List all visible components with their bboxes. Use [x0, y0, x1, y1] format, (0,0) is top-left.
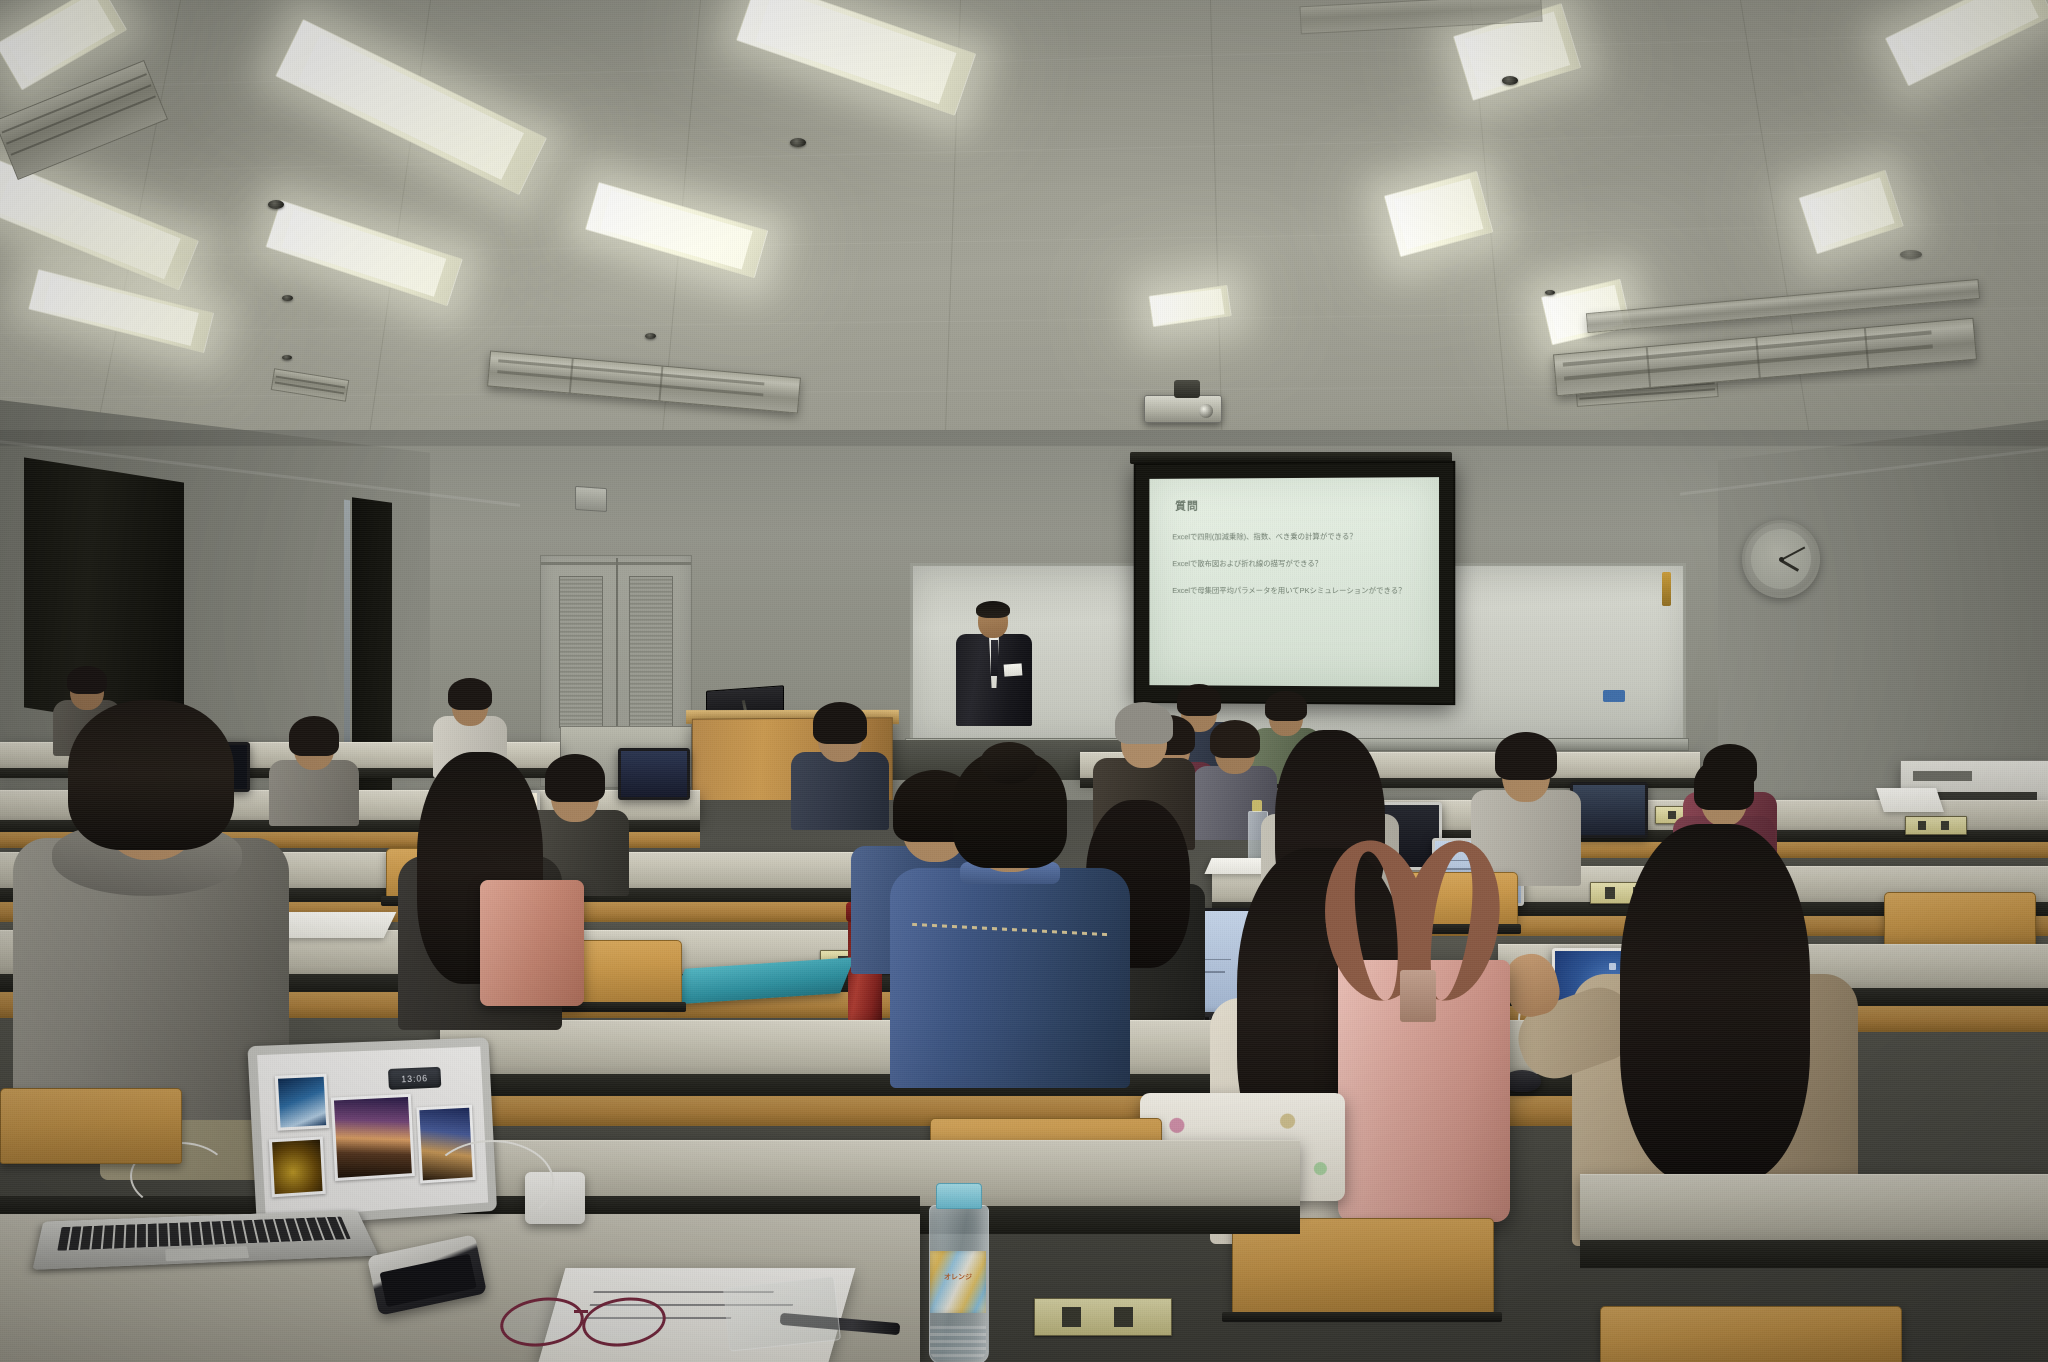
sprinkler-head-icon	[1545, 290, 1555, 295]
attendee-torso	[890, 868, 1130, 1088]
chair[interactable]	[1600, 1306, 1900, 1362]
chair[interactable]	[0, 1088, 180, 1162]
chair-backrest	[1600, 1306, 1902, 1362]
plastic-wrapper	[723, 1276, 841, 1351]
eyeglasses	[500, 1298, 700, 1358]
desk-power-outlet[interactable]	[1905, 816, 1967, 835]
attendee-hair	[1694, 758, 1754, 810]
ceiling-light-troffer	[265, 200, 463, 307]
sprinkler-head-icon	[282, 295, 293, 301]
attendee-hair	[1495, 732, 1557, 780]
bottle-ribs	[930, 1326, 986, 1360]
ceiling-light-troffer	[1383, 171, 1493, 258]
desk-edge	[1580, 1240, 2048, 1268]
whiteboard-hook	[1662, 572, 1671, 606]
water-bottle: オレンジ	[927, 1183, 989, 1362]
chair[interactable]	[1884, 892, 2034, 950]
sprinkler-head-icon	[268, 200, 284, 209]
desk-power-outlet[interactable]	[1034, 1298, 1172, 1336]
ceiling-light-troffer	[736, 0, 977, 116]
desk-surface	[1580, 1174, 2048, 1241]
door-glass-panel	[629, 576, 673, 728]
chair-frame	[1222, 1312, 1503, 1322]
screen-clock-widget: 13:06	[388, 1067, 442, 1090]
lecture-hall-photo: 質問 Excelで四則(加減乗除)、指数、べき乗の計算ができる？ Excelで散…	[0, 0, 2048, 1362]
chair-backrest	[0, 1088, 182, 1164]
glasses-lens	[497, 1292, 587, 1351]
power-cable	[430, 1140, 554, 1224]
paper-sheet	[1876, 788, 1944, 812]
door-glass-panel	[559, 576, 603, 728]
sprinkler-head-icon	[1900, 250, 1922, 259]
attendee-hair	[1265, 691, 1307, 721]
attendee-hair	[67, 666, 107, 694]
projector-lens-icon	[1199, 404, 1213, 418]
projector-mount	[1174, 380, 1200, 398]
wall-clock	[1742, 520, 1820, 598]
hvac-duct-unit	[487, 350, 801, 413]
presenter-hair	[976, 601, 1010, 618]
attendee-hair	[1115, 702, 1173, 744]
attendee-hair-bun	[980, 742, 1038, 784]
attendee-hair	[1210, 720, 1260, 758]
coral-bag	[480, 880, 584, 1006]
sunset-landscape-photo[interactable]	[331, 1094, 415, 1181]
laptop-keys[interactable]	[57, 1216, 351, 1250]
presenter-tie	[991, 640, 998, 676]
golden-lights-photo[interactable]	[269, 1137, 326, 1198]
clock-center-pin	[1779, 557, 1784, 562]
ceiling-light-troffer	[0, 159, 199, 290]
attendee-hair	[813, 702, 867, 744]
laptop-trackpad[interactable]	[166, 1246, 249, 1261]
chair-backrest	[1884, 892, 2036, 952]
attendee-hair	[289, 716, 339, 756]
projection-screen-surface: 質問 Excelで四則(加減乗除)、指数、べき乗の計算ができる？ Excelで散…	[1149, 477, 1439, 687]
desk-row	[1580, 1174, 2048, 1240]
ceiling-vent	[271, 368, 350, 402]
sprinkler-head-icon	[645, 333, 656, 339]
blue-mountain-photo[interactable]	[275, 1073, 330, 1130]
ceiling	[0, 0, 2048, 470]
presenter	[952, 604, 1036, 724]
slide-line: Excelで母集団平均パラメータを用いてPKシミュレーションができる？	[1172, 586, 1421, 597]
ceiling-light-troffer	[1884, 0, 2048, 87]
slide-line: Excelで四則(加減乗除)、指数、べき乗の計算ができる？	[1172, 532, 1421, 543]
attendee-hair	[1620, 824, 1810, 1182]
glasses-lens	[579, 1292, 669, 1351]
wall-speaker	[575, 486, 607, 512]
printer-control-panel	[1913, 771, 1972, 781]
laptop-screen	[621, 751, 687, 797]
sprinkler-head-icon	[282, 355, 292, 360]
bag-closure-tab	[1400, 970, 1436, 1022]
ceiling-light-troffer	[1798, 169, 1904, 254]
bottle-label: オレンジ	[930, 1251, 986, 1313]
bottle-label-text: オレンジ	[930, 1272, 986, 1282]
attendee-hair	[448, 678, 492, 710]
glasses-bridge	[574, 1310, 588, 1313]
pink-tote-bag	[1338, 960, 1510, 1222]
projection-screen: 質問 Excelで四則(加減乗除)、指数、べき乗の計算ができる？ Excelで散…	[1134, 461, 1456, 705]
attendee-denim-jacket	[888, 750, 1132, 1086]
bottle-cap	[936, 1183, 982, 1209]
presenter-pocket-square	[1004, 663, 1023, 676]
sprinkler-head-icon	[790, 138, 806, 147]
slide-line: Excelで散布図および折れ線の描写ができる？	[1172, 559, 1421, 570]
attendee-hair	[68, 700, 234, 850]
whiteboard-magnet	[1603, 690, 1625, 702]
wall-shading	[0, 430, 2048, 446]
sprinkler-head-icon	[1502, 76, 1518, 85]
ceiling-light-troffer	[275, 19, 548, 196]
slide-title: 質問	[1175, 497, 1199, 513]
ceiling-projector	[1144, 395, 1222, 423]
ceiling-light-troffer	[28, 269, 215, 354]
